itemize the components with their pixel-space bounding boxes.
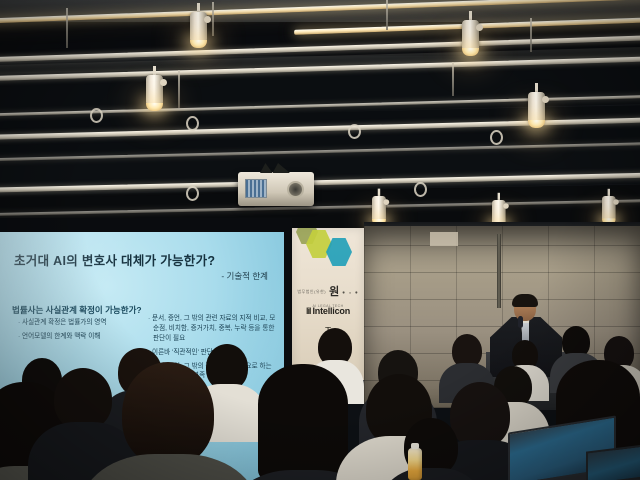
ceiling [0,0,640,232]
wall-patch [430,232,458,246]
banner-brand-char: 원 [329,286,339,298]
conference-photo: 초거대 AI의 변호사 대체가 가능한가? - 기술적 한계 법률사는 사실관계… [0,0,640,480]
slide-title: 초거대 AI의 변호사 대체가 가능한가? [14,250,215,269]
laptop-screen [586,444,640,480]
beverage-bottle [408,448,422,480]
laptop [586,448,640,480]
banner-brand-tag: 법무법인(유한) [297,289,326,294]
slide-subtitle: - 기술적 한계 [221,270,268,282]
banner-brand-dots: • ◦ • [342,290,358,297]
banner-brand-mark: 법무법인(유한) 원 • ◦ • [292,283,364,299]
ceiling-projector [238,172,314,206]
